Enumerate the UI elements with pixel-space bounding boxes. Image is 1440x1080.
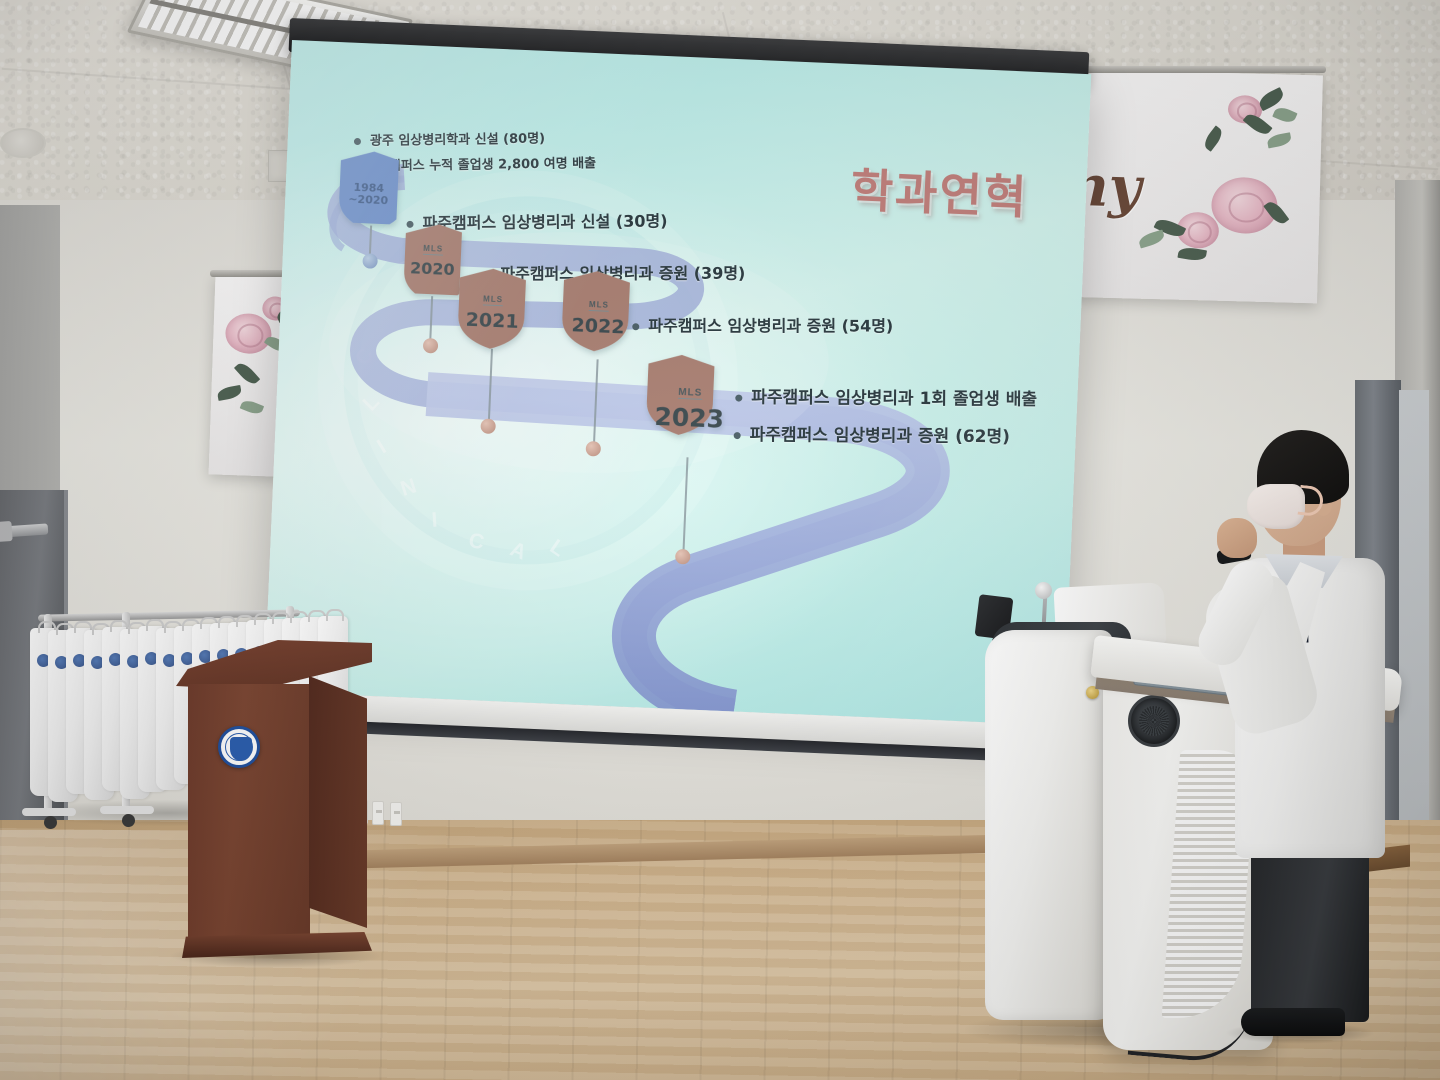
podium-top [176, 640, 372, 690]
university-seal-icon [218, 726, 260, 768]
podium-side-panel [309, 676, 367, 928]
wall-outlet[interactable] [390, 802, 402, 826]
face-mask-icon [1247, 484, 1305, 529]
speaker-grille-icon [1128, 695, 1180, 747]
wooden-podium[interactable] [176, 640, 372, 958]
bullet-item: 파주캠퍼스 임상병리과 증원 (54명) [632, 312, 893, 336]
wall-outlet[interactable] [372, 801, 384, 825]
banner-rod [1060, 66, 1326, 73]
caster-wheel-icon [122, 814, 135, 827]
lecture-hall-photo: ny C L I N I [0, 0, 1440, 1080]
bullet-item: 광주 임상병리학과 신설 (80명) [354, 128, 545, 150]
ceiling-speaker-icon [0, 128, 46, 158]
presenter [1195, 430, 1425, 1050]
coat-rack-foot [100, 806, 154, 814]
bullet-item: 파주캠퍼스 임상병리과 1회 졸업생 배출 [735, 383, 1037, 410]
milestone-shield-1984-2020: 1984 ~2020 [338, 150, 399, 224]
milestone-shield-2022: MLS 2022 [561, 270, 637, 363]
microphone-icon[interactable] [1035, 582, 1052, 599]
projection-screen: C L I N I C A L 학과연혁 [264, 40, 1091, 726]
podium-front-panel [188, 684, 310, 942]
caster-wheel-icon [44, 816, 57, 829]
coat-rack-foot [22, 808, 76, 816]
floral-banner-right: ny [1057, 69, 1323, 304]
slide-canvas: C L I N I C A L 학과연혁 [264, 40, 1091, 726]
milestone-shield-2021: MLS 2021 [457, 267, 529, 354]
milestone-shield-2023: MLS 2023 [644, 354, 734, 464]
presenter-hand [1217, 518, 1257, 558]
presenter-trousers [1251, 832, 1369, 1022]
milestone-shield-2020: MLS 2020 [403, 223, 462, 295]
presenter-shoe [1241, 1008, 1345, 1036]
bullet-item: 파주캠퍼스 임상병리과 증원 (62명) [734, 420, 1010, 447]
